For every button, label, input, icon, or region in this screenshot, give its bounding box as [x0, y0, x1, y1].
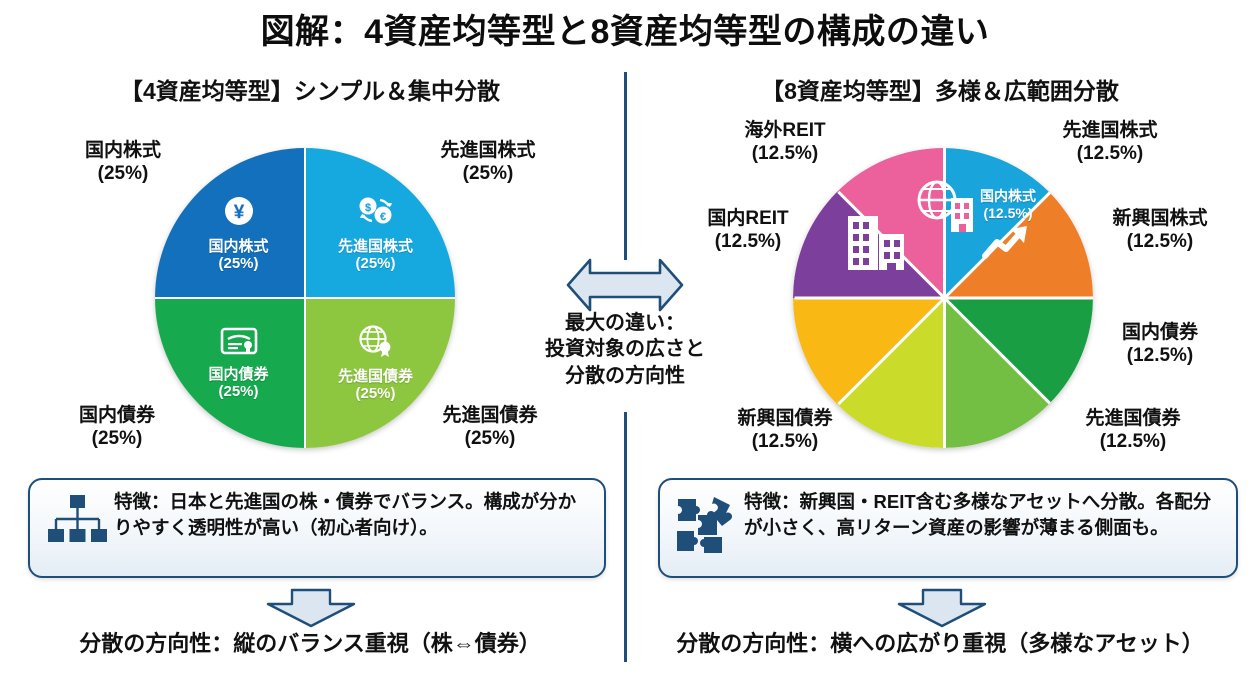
pie8-label-developed-bond: 先進国債券 (12.5%) [1048, 408, 1218, 454]
center-divider-bottom [624, 412, 627, 662]
left-column-heading: 【4資産均等型】シンプル＆集中分散 [0, 72, 620, 106]
center-note-line2: 投資対象の広さと [530, 336, 720, 362]
trend-up-arrow-icon [981, 222, 1033, 271]
bond-certificate-icon [219, 326, 259, 361]
pie4-slice-domestic-bond-content: 国内債券 (25%) [155, 299, 304, 448]
center-note-line3: 分散の方向性 [530, 363, 720, 389]
pie4-slice-domestic-equity-content: ¥ 国内株式 (25%) [155, 148, 304, 297]
hierarchy-icon [40, 489, 114, 549]
svg-text:¥: ¥ [233, 202, 244, 223]
pie8-label-developed-equity: 先進国株式 (12.5%) [1025, 120, 1195, 166]
pie8-label-domestic-bond: 国内債券 (12.5%) [1080, 322, 1240, 368]
globe-bond-icon [357, 324, 395, 363]
pie-chart-4-assets: ¥ 国内株式 (25%) $ € 先進国株式 [155, 148, 455, 448]
center-divider-top [624, 72, 627, 260]
right-feature-text: 特徴：新興国・REIT含む多様なアセットへ分散。各配分が小さく、高リターン資産の… [744, 489, 1224, 540]
center-note-line1: 最大の違い： [530, 310, 720, 336]
pie4-slice-developed-bond-content: 先進国債券 (25%) [306, 299, 455, 448]
buildings-icon [845, 210, 909, 277]
pie4-slice-domestic-equity[interactable]: ¥ 国内株式 (25%) [155, 148, 305, 298]
right-footer-text: 分散の方向性：横への広がり重視（多様なアセット） [630, 626, 1250, 658]
pie4-slice-domestic-equity-name: 国内株式 [208, 238, 268, 256]
pie4-slice-developed-equity[interactable]: $ € 先進国株式 (25%) [305, 148, 455, 298]
pie8-inner-label-domestic-equity: 国内株式 (12.5%) [953, 188, 1063, 222]
pie8-label-emerging-bond: 新興国債券 (12.5%) [700, 408, 870, 454]
pie8-separator [945, 297, 1094, 300]
page-title: 図解：4資産均等型と8資産均等型の構成の違い [0, 4, 1250, 53]
currency-exchange-icon: $ € [356, 194, 396, 233]
right-feature-card: 特徴：新興国・REIT含む多様なアセットへ分散。各配分が小さく、高リターン資産の… [658, 478, 1238, 578]
pie4-slice-developed-equity-name: 先進国株式 [338, 238, 413, 256]
pie8-label-emerging-equity: 新興国株式 (12.5%) [1075, 208, 1245, 254]
center-note: 最大の違い： 投資対象の広さと 分散の方向性 [530, 310, 720, 389]
double-headed-arrow-icon [566, 258, 684, 317]
pie4-slice-developed-bond-value: (25%) [355, 385, 395, 403]
pie8-separator [795, 297, 945, 300]
pie4-slice-domestic-equity-value: (25%) [218, 255, 258, 273]
svg-text:€: € [379, 211, 385, 223]
pie4-slice-developed-bond-name: 先進国債券 [338, 368, 413, 386]
pie8-label-overseas-reit: 海外REIT (12.5%) [705, 120, 865, 166]
pie8-inner-label-domestic-equity-value: (12.5%) [983, 205, 1032, 221]
pie-chart-8-assets: 国内株式 (12.5%) [793, 148, 1093, 448]
pie4-slice-developed-bond[interactable]: 先進国債券 (25%) [305, 298, 455, 448]
puzzle-icon [670, 489, 744, 555]
pie4-slice-developed-equity-value: (25%) [355, 255, 395, 273]
yen-coin-icon: ¥ [222, 194, 256, 233]
left-feature-card: 特徴：日本と先進国の株・債券でバランス。構成が分かりやすく透明性が高い（初心者向… [28, 478, 606, 578]
pie4-slice-developed-equity-content: $ € 先進国株式 (25%) [306, 148, 455, 297]
pie4-slice-domestic-bond-value: (25%) [218, 383, 258, 401]
pie8-inner-label-domestic-equity-name: 国内株式 [980, 188, 1036, 204]
svg-text:$: $ [364, 202, 370, 214]
pie8-separator [943, 298, 946, 448]
left-footer-text: 分散の方向性：縦のバランス重視（株⇔債券） [0, 626, 620, 658]
right-column-heading: 【8資産均等型】多様＆広範囲分散 [630, 72, 1250, 106]
left-feature-text: 特徴：日本と先進国の株・債券でバランス。構成が分かりやすく透明性が高い（初心者向… [114, 489, 592, 540]
pie4-slice-domestic-bond-name: 国内債券 [208, 366, 268, 384]
pie4-slice-domestic-bond[interactable]: 国内債券 (25%) [155, 298, 305, 448]
infographic-root: 図解：4資産均等型と8資産均等型の構成の違い 【4資産均等型】シンプル＆集中分散… [0, 0, 1250, 681]
